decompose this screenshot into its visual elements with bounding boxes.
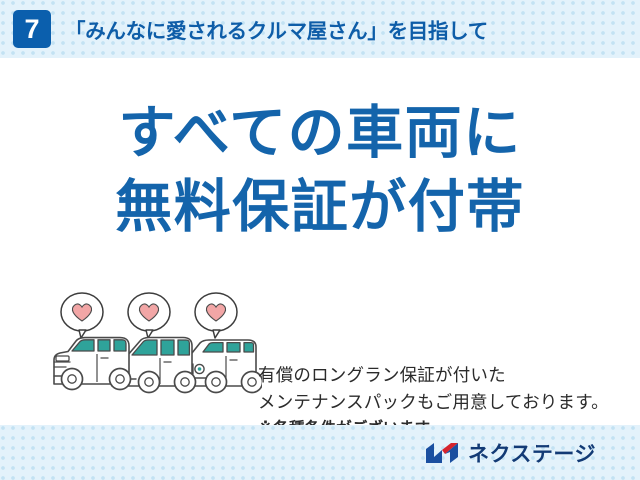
- header: 7 「みんなに愛されるクルマ屋さん」を目指して: [0, 0, 640, 58]
- lower-content-row: 有償のロングラン保証が付いた メンテナンスパックもご用意しております。 ※各種条…: [0, 290, 640, 410]
- header-title: 「みんなに愛されるクルマ屋さん」を目指して: [65, 14, 488, 44]
- brand-name: ネクステージ: [468, 438, 596, 468]
- body-copy-line-1: 有償のロングラン保証が付いた: [258, 362, 630, 389]
- speech-bubble-1: [61, 293, 103, 338]
- headline-line-2: 無料保証が付帯: [0, 170, 640, 244]
- body-copy-line-2: メンテナンスパックもご用意しております。: [258, 389, 630, 416]
- speech-bubble-3: [195, 293, 237, 338]
- headline-line-1: すべての車両に: [0, 96, 640, 170]
- headline: すべての車両に 無料保証が付帯: [0, 96, 640, 244]
- content-stage: すべての車両に 無料保証が付帯: [0, 58, 640, 425]
- car-kei-box-wagon: [54, 338, 131, 390]
- footer: ネクステージ: [0, 425, 640, 480]
- nexstage-n-logo-icon: [425, 441, 459, 465]
- speech-bubble-2: [128, 293, 170, 338]
- brand-lockup: ネクステージ: [425, 438, 596, 468]
- step-number-badge: 7: [13, 10, 51, 48]
- promo-banner: 7 「みんなに愛されるクルマ屋さん」を目指して すべての車両に 無料保証が付帯: [0, 0, 640, 480]
- cars-illustration: [50, 290, 262, 398]
